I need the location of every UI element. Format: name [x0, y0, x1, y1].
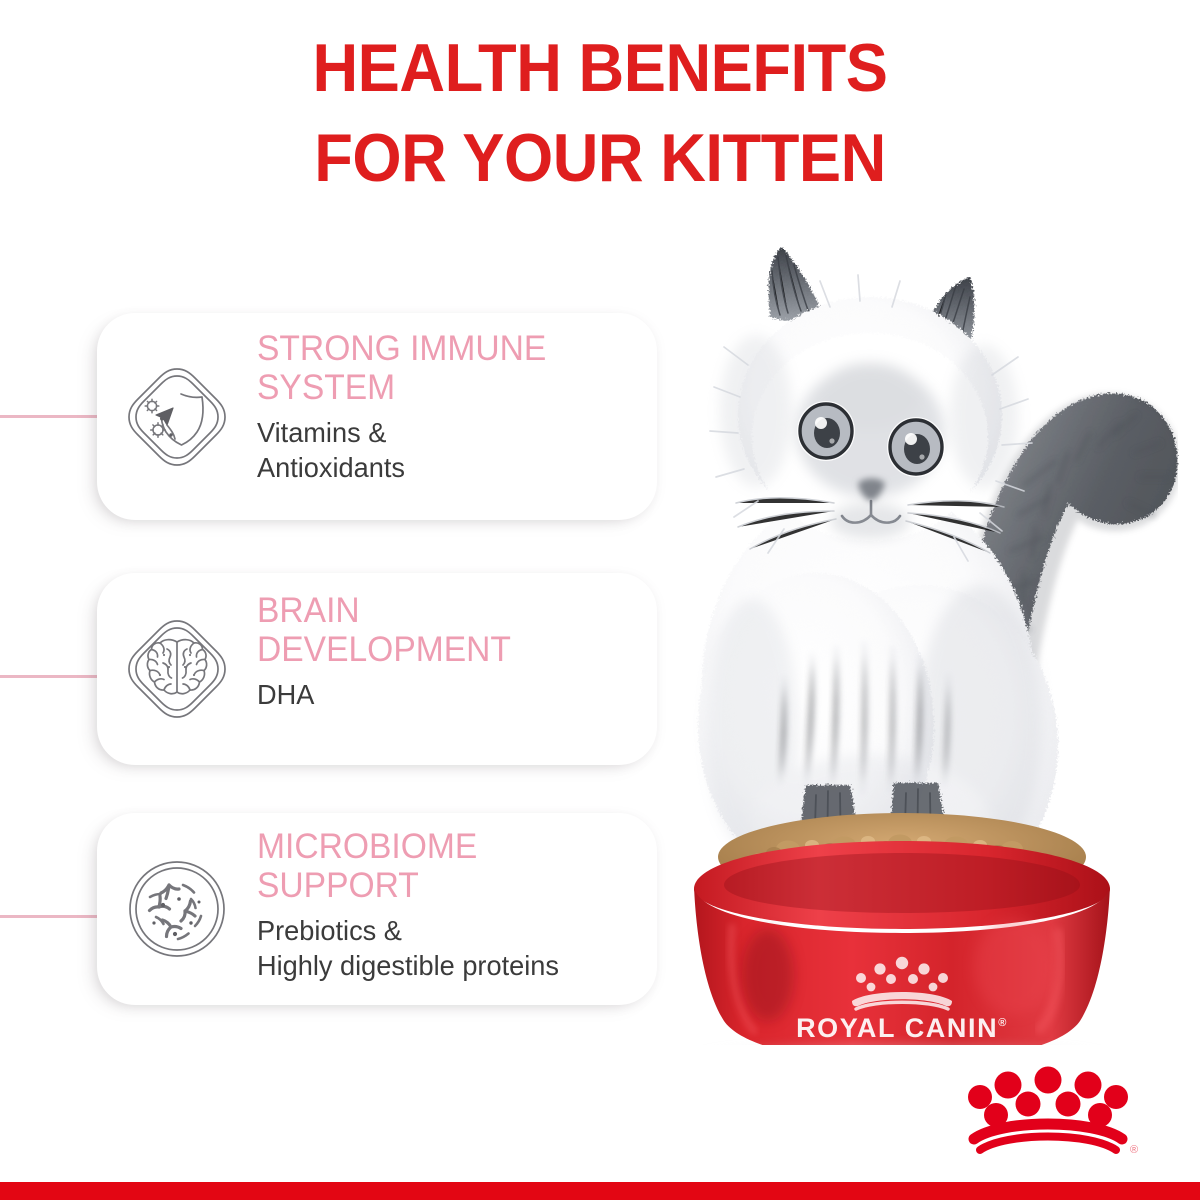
benefit-text-block: BRAIN DEVELOPMENT DHA: [257, 591, 649, 713]
benefit-title: MICROBIOME SUPPORT: [257, 827, 633, 905]
connector-line: [0, 415, 104, 418]
brain-icon: [123, 615, 231, 723]
kitten-with-bowl-photo: ROYAL CANIN®: [620, 185, 1180, 1045]
benefit-text-block: STRONG IMMUNE SYSTEM Vitamins & Antioxid…: [257, 329, 649, 485]
page-title: HEALTH BENEFITS FOR YOUR KITTEN: [0, 34, 1200, 192]
brand-footer-bar: [0, 1182, 1200, 1200]
benefit-card: MICROBIOME SUPPORT Prebiotics & Highly d…: [97, 813, 657, 1005]
benefit-item-immune: STRONG IMMUNE SYSTEM Vitamins & Antioxid…: [0, 313, 640, 518]
benefit-subtitle: Prebiotics & Highly digestible proteins: [257, 914, 637, 982]
bowl-brand-wordmark: ROYAL CANIN®: [796, 1013, 1008, 1043]
benefit-card: STRONG IMMUNE SYSTEM Vitamins & Antioxid…: [97, 313, 657, 520]
benefit-subtitle: Vitamins & Antioxidants: [257, 416, 637, 484]
microbiome-bacteria-icon: [123, 855, 231, 963]
benefit-title: STRONG IMMUNE SYSTEM: [257, 329, 633, 407]
connector-line: [0, 915, 104, 918]
benefit-item-microbiome: MICROBIOME SUPPORT Prebiotics & Highly d…: [0, 813, 640, 1018]
poster-canvas: HEALTH BENEFITS FOR YOUR KITTEN: [0, 0, 1200, 1200]
benefit-text-block: MICROBIOME SUPPORT Prebiotics & Highly d…: [257, 827, 649, 983]
page-title-line-2: FOR YOUR KITTEN: [42, 124, 1158, 192]
registered-mark: ®: [1130, 1144, 1138, 1156]
benefit-title: BRAIN DEVELOPMENT: [257, 591, 633, 669]
shield-germs-icon: [123, 363, 231, 471]
connector-line: [0, 675, 104, 678]
benefit-subtitle: DHA: [257, 678, 637, 712]
page-title-line-1: HEALTH BENEFITS: [42, 34, 1158, 102]
benefit-item-brain: BRAIN DEVELOPMENT DHA: [0, 573, 640, 778]
royal-canin-crown-logo: ®: [958, 1055, 1138, 1165]
benefit-card: BRAIN DEVELOPMENT DHA: [97, 573, 657, 765]
